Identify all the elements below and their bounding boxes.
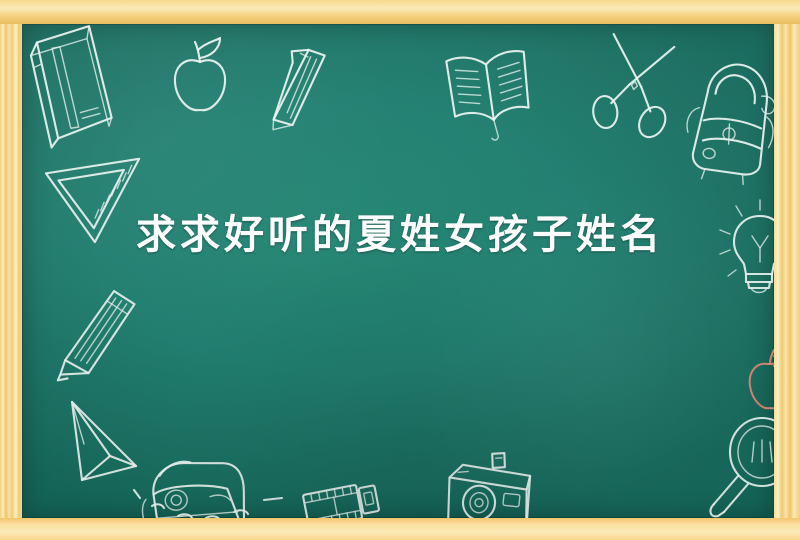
- camera-icon: [432, 442, 552, 518]
- apple-icon: [162, 36, 238, 122]
- screenshot-root: 求求好听的夏姓女孩子姓名: [0, 0, 800, 540]
- crayon-icon: [244, 46, 354, 142]
- backpack-icon: [672, 52, 774, 188]
- satchel-icon: [132, 442, 262, 518]
- paper-plane-trail: [130, 482, 330, 518]
- book-stack-icon: [22, 24, 124, 150]
- page-title: 求求好听的夏姓女孩子姓名: [0, 212, 800, 258]
- open-book-icon: [437, 42, 547, 152]
- magnifier-icon: [704, 410, 774, 518]
- frame-top-edge: [0, 0, 800, 24]
- frame-left-edge: [0, 0, 22, 540]
- scissors-icon: [582, 28, 692, 138]
- film-strip-icon: [296, 476, 386, 518]
- frame-right-edge: [774, 0, 800, 540]
- paper-plane-icon: [40, 380, 180, 510]
- frame-bottom-edge: [0, 518, 800, 540]
- chalkboard: [22, 24, 774, 518]
- pencil-icon: [36, 280, 146, 398]
- red-apple-icon: [738, 348, 774, 420]
